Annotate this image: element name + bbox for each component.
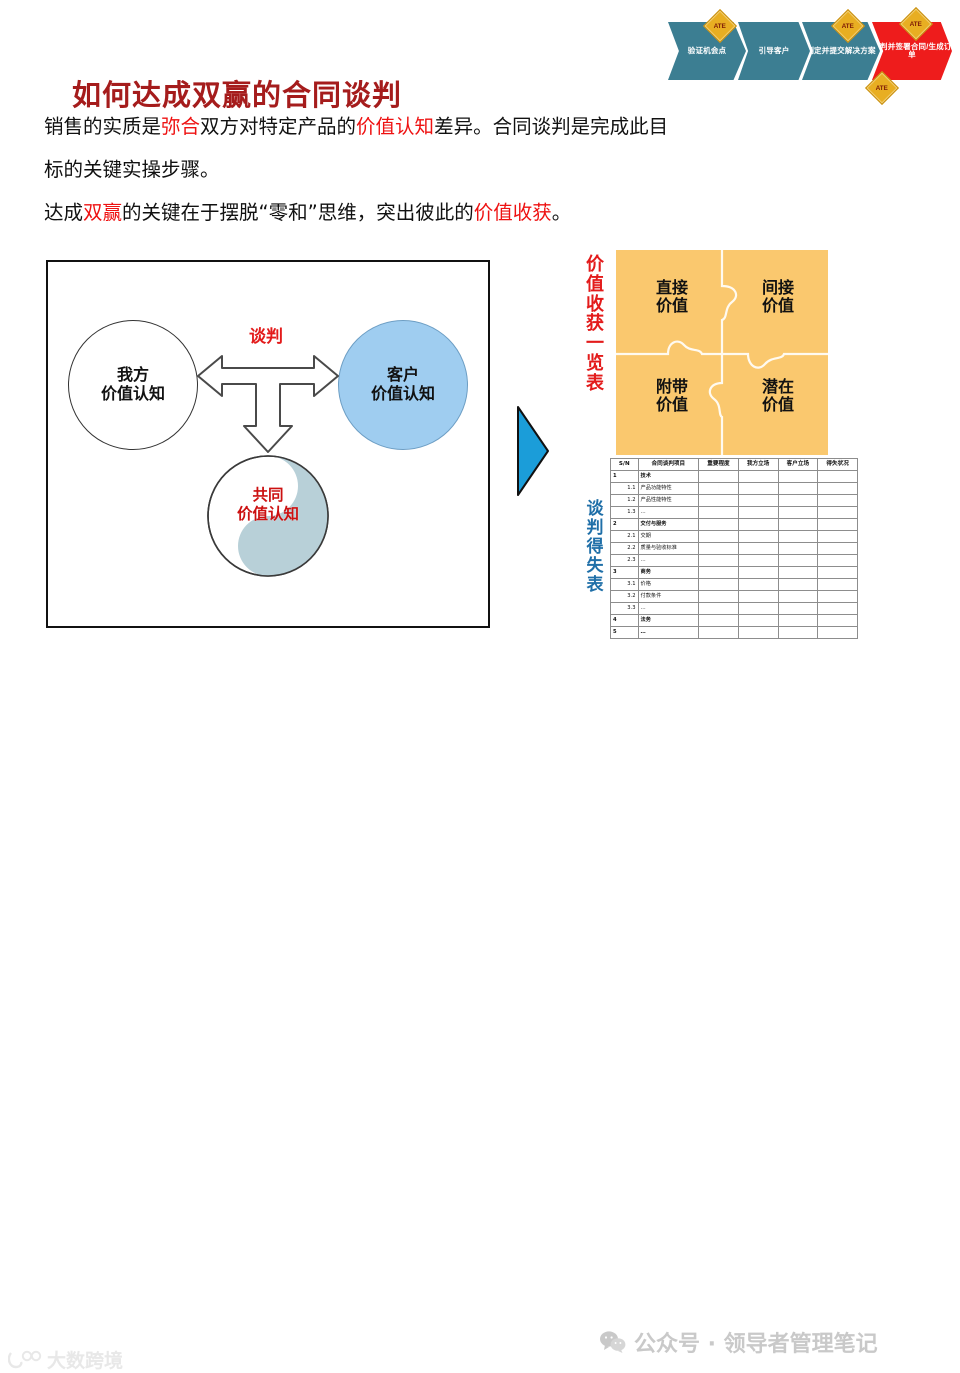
table-row: 4法务 bbox=[611, 615, 858, 627]
table-header-row: S/N 合同谈判项目 重要程度 我方立场 客户立场 得失状况 bbox=[611, 459, 858, 471]
cell-importance bbox=[699, 627, 739, 639]
p3-text-a: 达成 bbox=[44, 201, 83, 224]
ate-badge-label: ATE bbox=[842, 22, 854, 29]
cell-importance bbox=[699, 543, 739, 555]
cell-sn: 2.3 bbox=[611, 555, 639, 567]
p3-highlight-2: 价值收获 bbox=[474, 201, 552, 224]
cell-our-position bbox=[738, 603, 778, 615]
cell-item: … bbox=[638, 555, 699, 567]
cell-our-position bbox=[738, 615, 778, 627]
cell-gain-loss bbox=[818, 531, 858, 543]
p3-highlight-1: 双赢 bbox=[83, 201, 122, 224]
table-row: 3.1价格 bbox=[611, 579, 858, 591]
client-circle-line2: 价值认知 bbox=[371, 385, 435, 404]
process-step-3-label: 制定并提交解决方案 bbox=[806, 47, 875, 55]
cell-gain-loss bbox=[818, 627, 858, 639]
shared-label-line2: 价值认知 bbox=[198, 505, 338, 524]
cell-client-position bbox=[778, 627, 818, 639]
bidirectional-down-arrow-icon bbox=[196, 348, 340, 458]
cell-item: 产品性能特性 bbox=[638, 495, 699, 507]
cell-importance bbox=[699, 591, 739, 603]
cell-sn: 3 bbox=[611, 567, 639, 579]
process-step-1-label: 验证机会点 bbox=[688, 47, 727, 55]
cell-sn: 2.2 bbox=[611, 543, 639, 555]
p1-highlight-1: 弥合 bbox=[161, 115, 200, 138]
cell-gain-loss bbox=[818, 483, 858, 495]
table-row: 3.2付款条件 bbox=[611, 591, 858, 603]
cell-sn: 5 bbox=[611, 627, 639, 639]
cell-gain-loss bbox=[818, 615, 858, 627]
cell-client-position bbox=[778, 543, 818, 555]
cell-our-position bbox=[738, 519, 778, 531]
paragraph-2: 标的关键实操步骤。 bbox=[44, 155, 220, 185]
pz-tl-line2: 价值 bbox=[622, 297, 722, 315]
cell-our-position bbox=[738, 471, 778, 483]
cell-our-position bbox=[738, 507, 778, 519]
paragraph-3: 达成双赢的关键在于摆脱“零和”思维，突出彼此的价值收获。 bbox=[44, 198, 571, 228]
pz-bl-line2: 价值 bbox=[622, 396, 722, 414]
ate-badge-label: ATE bbox=[876, 84, 888, 91]
cell-client-position bbox=[778, 471, 818, 483]
cell-sn: 1.1 bbox=[611, 483, 639, 495]
puzzle-quadrant-potential: 潜在 价值 bbox=[728, 378, 828, 415]
cell-item: 付款条件 bbox=[638, 591, 699, 603]
ate-badge-label: ATE bbox=[910, 20, 922, 27]
wechat-icon bbox=[600, 1331, 626, 1353]
cell-gain-loss bbox=[818, 507, 858, 519]
negotiation-label: 谈判 bbox=[200, 322, 332, 347]
puzzle-quadrant-indirect: 间接 价值 bbox=[728, 279, 828, 316]
cell-client-position bbox=[778, 519, 818, 531]
cell-item: 产品功能特性 bbox=[638, 483, 699, 495]
cell-sn: 3.3 bbox=[611, 603, 639, 615]
cell-client-position bbox=[778, 603, 818, 615]
table-row: 3.3… bbox=[611, 603, 858, 615]
p3-text-c: 。 bbox=[552, 201, 572, 224]
table-row: 1.1产品功能特性 bbox=[611, 483, 858, 495]
pz-tr-line1: 间接 bbox=[728, 279, 828, 297]
pz-br-line1: 潜在 bbox=[728, 378, 828, 396]
table-row: 3商务 bbox=[611, 567, 858, 579]
cell-importance bbox=[699, 483, 739, 495]
cell-client-position bbox=[778, 483, 818, 495]
flow-arrow-right-icon bbox=[516, 405, 550, 497]
cell-item: 技术 bbox=[638, 471, 699, 483]
cell-sn: 4 bbox=[611, 615, 639, 627]
cell-importance bbox=[699, 471, 739, 483]
cell-importance bbox=[699, 555, 739, 567]
cell-client-position bbox=[778, 591, 818, 603]
cell-gain-loss bbox=[818, 519, 858, 531]
th-gain-loss: 得失状况 bbox=[818, 459, 858, 471]
table-row: 1技术 bbox=[611, 471, 858, 483]
cell-sn: 1.3 bbox=[611, 507, 639, 519]
th-our-position: 我方立场 bbox=[738, 459, 778, 471]
cell-our-position bbox=[738, 531, 778, 543]
pz-tr-line2: 价值 bbox=[728, 297, 828, 315]
cell-importance bbox=[699, 615, 739, 627]
cell-our-position bbox=[738, 591, 778, 603]
negotiation-gain-loss-table: S/N 合同谈判项目 重要程度 我方立场 客户立场 得失状况 1技术1.1产品功… bbox=[610, 458, 858, 639]
client-circle-line1: 客户 bbox=[371, 366, 435, 385]
cell-sn: 1.2 bbox=[611, 495, 639, 507]
pz-bl-line1: 附带 bbox=[622, 378, 722, 396]
wechat-credit-label: 公众号 · 领导者管理笔记 bbox=[634, 1326, 878, 1358]
cell-importance bbox=[699, 531, 739, 543]
cell-item: 交期 bbox=[638, 531, 699, 543]
table-row: 2.3… bbox=[611, 555, 858, 567]
negotiation-table-side-label: 谈判得失表 bbox=[582, 500, 608, 595]
puzzle-quadrant-incidental: 附带 价值 bbox=[622, 378, 722, 415]
table-row: 1.2产品性能特性 bbox=[611, 495, 858, 507]
puzzle-quadrant-direct: 直接 价值 bbox=[622, 279, 722, 316]
process-step-2-label: 引导客户 bbox=[759, 47, 790, 55]
cell-gain-loss bbox=[818, 495, 858, 507]
th-importance: 重要程度 bbox=[699, 459, 739, 471]
p1-text-c: 差异。合同谈判是完成此目 bbox=[434, 115, 668, 138]
brand-label: 大数跨境 bbox=[47, 1346, 123, 1373]
cell-importance bbox=[699, 603, 739, 615]
cell-importance bbox=[699, 495, 739, 507]
cell-item: … bbox=[638, 603, 699, 615]
cell-item: 交付与服务 bbox=[638, 519, 699, 531]
brand-mark-icon bbox=[8, 1350, 42, 1370]
cell-client-position bbox=[778, 531, 818, 543]
process-step-2: 引导客户 bbox=[738, 22, 810, 80]
cell-our-position bbox=[738, 555, 778, 567]
cell-item: … bbox=[638, 627, 699, 639]
value-perception-diagram: 我方 价值认知 客户 价值认知 谈判 共同 价值认知 bbox=[46, 260, 490, 628]
cell-our-position bbox=[738, 579, 778, 591]
self-value-circle: 我方 价值认知 bbox=[68, 320, 198, 450]
shared-label-line1: 共同 bbox=[198, 486, 338, 505]
cell-item: 商务 bbox=[638, 567, 699, 579]
cell-importance bbox=[699, 567, 739, 579]
shared-value-label: 共同 价值认知 bbox=[198, 486, 338, 523]
cell-client-position bbox=[778, 579, 818, 591]
process-step-4-label: 谈判并签署合同/生成订单 bbox=[872, 43, 952, 59]
p1-text-a: 销售的实质是 bbox=[44, 115, 161, 138]
cell-gain-loss bbox=[818, 603, 858, 615]
th-sn: S/N bbox=[611, 459, 639, 471]
cell-sn: 1 bbox=[611, 471, 639, 483]
self-circle-line1: 我方 bbox=[101, 366, 165, 385]
th-client-position: 客户立场 bbox=[778, 459, 818, 471]
cell-gain-loss bbox=[818, 471, 858, 483]
table-row: 2交付与服务 bbox=[611, 519, 858, 531]
cell-gain-loss bbox=[818, 555, 858, 567]
p1-text-b: 双方对特定产品的 bbox=[200, 115, 356, 138]
cell-our-position bbox=[738, 627, 778, 639]
table-row: 2.2质量与验收标准 bbox=[611, 543, 858, 555]
value-gain-side-label: 价值收获一览表 bbox=[582, 255, 608, 394]
p3-text-b: 的关键在于摆脱“零和”思维，突出彼此的 bbox=[122, 201, 474, 224]
pz-br-line2: 价值 bbox=[728, 396, 828, 414]
cell-gain-loss bbox=[818, 567, 858, 579]
page-title: 如何达成双赢的合同谈判 bbox=[72, 72, 402, 114]
cell-item: 质量与验收标准 bbox=[638, 543, 699, 555]
cell-sn: 3.1 bbox=[611, 579, 639, 591]
table-row: 1.3… bbox=[611, 507, 858, 519]
cell-client-position bbox=[778, 495, 818, 507]
cell-sn: 2 bbox=[611, 519, 639, 531]
cell-our-position bbox=[738, 543, 778, 555]
cell-gain-loss bbox=[818, 543, 858, 555]
cell-our-position bbox=[738, 495, 778, 507]
footer-bar: 公众号 · 领导者管理笔记 大数跨境 bbox=[0, 658, 960, 720]
cell-client-position bbox=[778, 567, 818, 579]
paragraph-1: 销售的实质是弥合双方对特定产品的价值认知差异。合同谈判是完成此目 bbox=[44, 112, 668, 142]
cell-importance bbox=[699, 519, 739, 531]
cell-importance bbox=[699, 507, 739, 519]
brand-watermark: 大数跨境 bbox=[8, 1346, 123, 1373]
ate-badge-label: ATE bbox=[714, 22, 726, 29]
cell-gain-loss bbox=[818, 579, 858, 591]
cell-sn: 3.2 bbox=[611, 591, 639, 603]
table-row: 5… bbox=[611, 627, 858, 639]
cell-client-position bbox=[778, 615, 818, 627]
cell-client-position bbox=[778, 507, 818, 519]
cell-item: 价格 bbox=[638, 579, 699, 591]
cell-item: … bbox=[638, 507, 699, 519]
cell-item: 法务 bbox=[638, 615, 699, 627]
p1-highlight-2: 价值认知 bbox=[356, 115, 434, 138]
client-value-circle: 客户 价值认知 bbox=[338, 320, 468, 450]
process-flow-strip: 验证机会点 引导客户 制定并提交解决方案 谈判并签署合同/生成订单 ATE AT… bbox=[668, 8, 958, 100]
cell-our-position bbox=[738, 567, 778, 579]
pz-tl-line1: 直接 bbox=[622, 279, 722, 297]
cell-gain-loss bbox=[818, 591, 858, 603]
th-item: 合同谈判项目 bbox=[638, 459, 699, 471]
cell-sn: 2.1 bbox=[611, 531, 639, 543]
cell-our-position bbox=[738, 483, 778, 495]
cell-importance bbox=[699, 579, 739, 591]
table-row: 2.1交期 bbox=[611, 531, 858, 543]
wechat-credit: 公众号 · 领导者管理笔记 bbox=[600, 1326, 878, 1358]
cell-client-position bbox=[778, 555, 818, 567]
self-circle-line2: 价值认知 bbox=[101, 385, 165, 404]
